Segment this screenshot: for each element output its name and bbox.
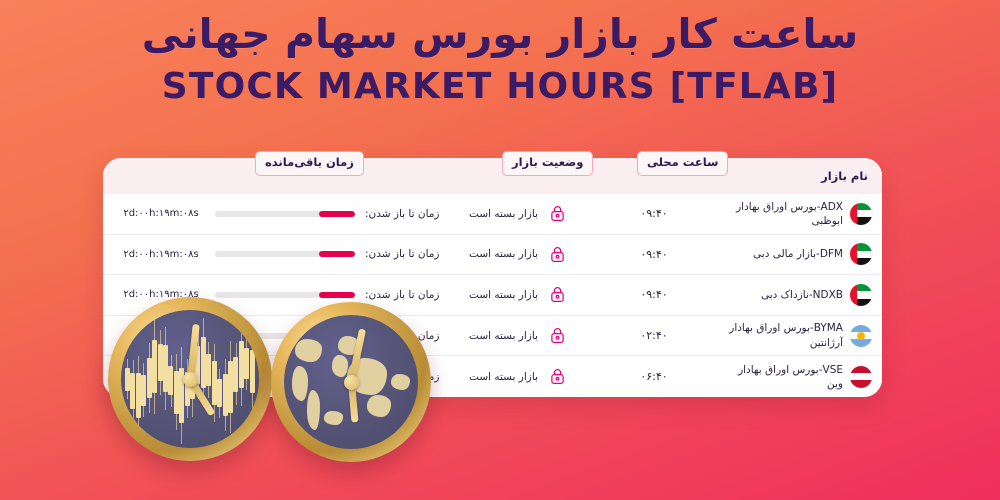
market-cell: VSE-بورس اوراق بهادار وین (725, 356, 872, 397)
remaining-cell: زمان تا باز شدن:۲d:۰۰h:۱۹m:۰۸s (111, 194, 434, 234)
remaining-cell: زمان تا باز شدن:۲d:۰۸h:۴۹m:۰۸s (111, 316, 434, 356)
table-row[interactable]: VSE-بورس اوراق بهادار وین۰۶:۴۰بازار بسته… (103, 356, 882, 397)
flag-uae-icon (850, 203, 872, 225)
remaining-label: زمان تا باز شدن: (365, 371, 440, 383)
table-row[interactable]: DFM-بازار مالی دبی۰۹:۴۰بازار بسته استزما… (103, 235, 882, 276)
countdown-progress-fill (319, 292, 355, 298)
market-cell: NDXB-نازداک دبی (761, 275, 872, 315)
countdown-value: ۲d:۰۴h:۱۹m:۰۸s (117, 371, 205, 382)
table-row[interactable]: ADX-بورس اوراق بهادار ابوظبی۰۹:۴۰بازار ب… (103, 194, 882, 235)
page-title-persian: ساعت کار بازار بورس سهام جهانی (0, 14, 1000, 55)
local-time-cell: ۰۶:۴۰ (611, 356, 697, 397)
countdown-progress-bar (215, 292, 355, 298)
page-title-english: STOCK MARKET HOURS [TFLAB] (0, 69, 1000, 105)
market-name-label: DFM-بازار مالی دبی (753, 247, 843, 261)
status-badge: بازار بسته است (469, 330, 538, 342)
world-map-landmass (324, 411, 343, 424)
flag-uae-icon (850, 284, 872, 306)
remaining-label: زمان تا باز شدن: (365, 208, 440, 220)
poster-canvas: ساعت کار بازار بورس سهام جهانی STOCK MAR… (0, 0, 1000, 500)
flag-austria-icon (850, 366, 872, 388)
column-header-status: وضعیت بازار (502, 151, 593, 176)
flag-uae-icon (850, 243, 872, 265)
status-cell: بازار بسته است (442, 235, 592, 275)
market-cell: BYMA-بورس اوراق بهادار آرژانتین (725, 316, 872, 356)
countdown-progress-bar (215, 251, 355, 257)
market-name-label: BYMA-بورس اوراق بهادار آرژانتین (725, 321, 843, 349)
local-time-value: ۰۹:۴۰ (640, 248, 667, 261)
column-header-local-time: ساعت محلی (637, 151, 728, 176)
local-time-cell: ۰۹:۴۰ (611, 235, 697, 275)
status-cell: بازار بسته است (442, 356, 592, 397)
countdown-progress-bar (215, 374, 355, 380)
market-rows: ADX-بورس اوراق بهادار ابوظبی۰۹:۴۰بازار ب… (103, 194, 882, 397)
status-badge: بازار بسته است (469, 289, 538, 301)
status-cell: بازار بسته است (442, 194, 592, 234)
flag-argentina-icon (850, 325, 872, 347)
countdown-value: ۲d:۰۰h:۱۹m:۰۸s (117, 249, 205, 260)
table-row[interactable]: BYMA-بورس اوراق بهادار آرژانتین۰۲:۴۰بازا… (103, 316, 882, 357)
countdown-progress-fill (319, 251, 355, 257)
page-title: ساعت کار بازار بورس سهام جهانی STOCK MAR… (0, 14, 1000, 105)
countdown-value: ۲d:۰۰h:۱۹m:۰۸s (117, 208, 205, 219)
countdown-progress-bar (215, 211, 355, 217)
countdown-progress-fill (319, 333, 355, 339)
world-map-landmass (367, 395, 391, 416)
table-row[interactable]: NDXB-نازداک دبی۰۹:۴۰بازار بسته استزمان ت… (103, 275, 882, 316)
lock-icon (550, 286, 565, 303)
column-header-remaining: زمان باقی‌مانده (255, 151, 364, 176)
status-cell: بازار بسته است (442, 275, 592, 315)
countdown-value: ۲d:۰۸h:۴۹m:۰۸s (117, 330, 205, 341)
remaining-cell: زمان تا باز شدن:۲d:۰۴h:۱۹m:۰۸s (111, 356, 434, 397)
market-hours-card: ADX-بورس اوراق بهادار ابوظبی۰۹:۴۰بازار ب… (103, 158, 882, 397)
remaining-cell: زمان تا باز شدن:۲d:۰۰h:۱۹m:۰۸s (111, 275, 434, 315)
remaining-label: زمان تا باز شدن: (365, 289, 440, 301)
countdown-value: ۲d:۰۰h:۱۹m:۰۸s (117, 289, 205, 300)
remaining-cell: زمان تا باز شدن:۲d:۰۰h:۱۹m:۰۸s (111, 235, 434, 275)
status-badge: بازار بسته است (469, 208, 538, 220)
column-header-market-name: نام بازار (821, 171, 868, 183)
countdown-progress-fill (319, 211, 355, 217)
local-time-value: ۰۲:۴۰ (640, 329, 667, 342)
market-cell: ADX-بورس اوراق بهادار ابوظبی (725, 194, 872, 234)
lock-icon (550, 246, 565, 263)
local-time-cell: ۰۲:۴۰ (611, 316, 697, 356)
local-time-value: ۰۶:۴۰ (640, 370, 667, 383)
local-time-cell: ۰۹:۴۰ (611, 275, 697, 315)
market-cell: DFM-بازار مالی دبی (753, 235, 872, 275)
table-header-row: زمان باقی‌مانده وضعیت بازار ساعت محلی نا… (103, 158, 882, 194)
remaining-label: زمان تا باز شدن: (365, 330, 440, 342)
lock-icon (550, 368, 565, 385)
local-time-cell: ۰۹:۴۰ (611, 194, 697, 234)
countdown-progress-fill (319, 374, 355, 380)
local-time-value: ۰۹:۴۰ (640, 207, 667, 220)
market-name-label: VSE-بورس اوراق بهادار وین (725, 363, 843, 391)
status-badge: بازار بسته است (469, 371, 538, 383)
market-name-label: ADX-بورس اوراق بهادار ابوظبی (725, 200, 843, 228)
remaining-label: زمان تا باز شدن: (365, 248, 440, 260)
lock-icon (550, 327, 565, 344)
lock-icon (550, 205, 565, 222)
status-badge: بازار بسته است (469, 248, 538, 260)
market-name-label: NDXB-نازداک دبی (761, 288, 843, 302)
local-time-value: ۰۹:۴۰ (640, 288, 667, 301)
status-cell: بازار بسته است (442, 316, 592, 356)
countdown-progress-bar (215, 333, 355, 339)
